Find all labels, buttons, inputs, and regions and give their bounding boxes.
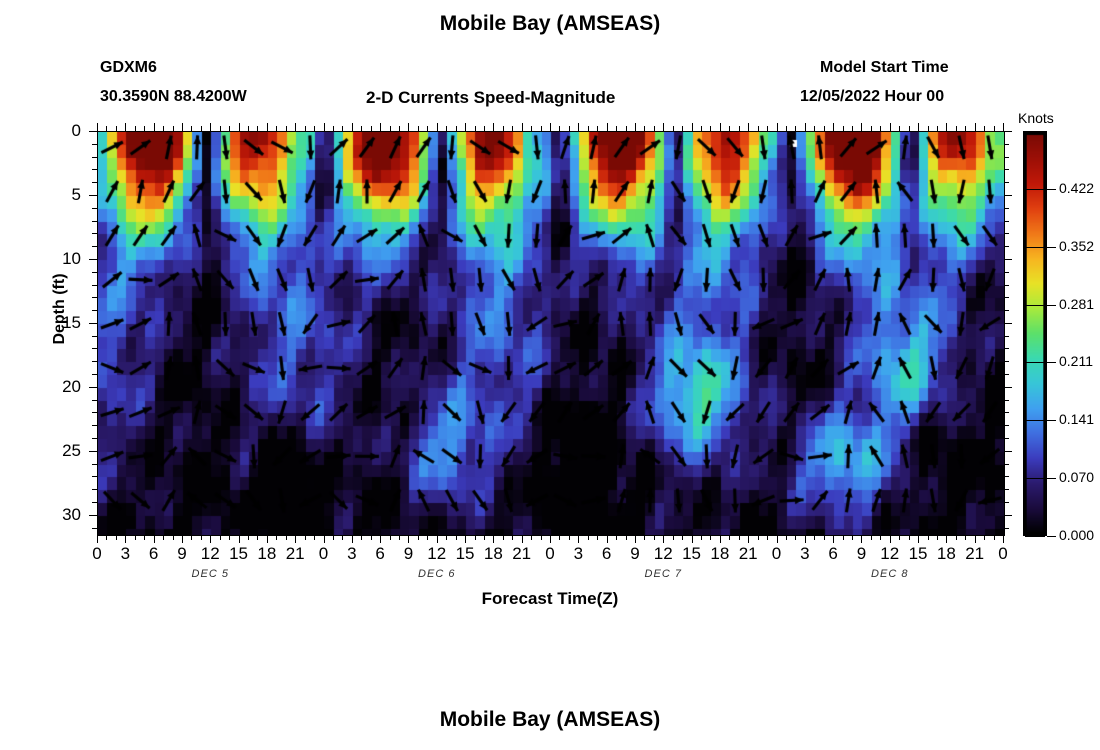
x-tick-minor: [871, 535, 872, 540]
y-tick-minor: [1004, 272, 1009, 273]
y-tick-minor: [92, 221, 97, 222]
x-tick-major: [125, 535, 126, 543]
x-tick-minor: [682, 535, 683, 540]
x-tick-minor: [276, 126, 277, 131]
x-tick-minor: [654, 126, 655, 131]
colorbar-tick-label: 0.070: [1059, 469, 1094, 485]
y-tick-major: [1004, 451, 1012, 452]
y-tick-minor: [1004, 208, 1009, 209]
x-tick-label: 0: [983, 544, 1023, 564]
x-tick-minor: [616, 126, 617, 131]
x-tick-minor: [928, 535, 929, 540]
x-tick-major: [578, 535, 579, 543]
x-tick-minor: [220, 126, 221, 131]
x-tick-minor: [559, 126, 560, 131]
y-tick-label: 5: [41, 185, 81, 205]
x-tick-minor: [729, 126, 730, 131]
y-tick-minor: [92, 144, 97, 145]
x-tick-minor: [928, 126, 929, 131]
x-tick-minor: [390, 535, 391, 540]
x-tick-major: [465, 535, 466, 543]
x-tick-major: [493, 123, 494, 131]
x-tick-minor: [626, 535, 627, 540]
x-tick-minor: [795, 126, 796, 131]
x-tick-major: [607, 123, 608, 131]
x-tick-minor: [106, 126, 107, 131]
y-tick-minor: [1004, 400, 1009, 401]
x-tick-minor: [814, 126, 815, 131]
x-tick-minor: [456, 126, 457, 131]
x-tick-minor: [937, 535, 938, 540]
x-tick-major: [493, 535, 494, 543]
y-tick-minor: [92, 438, 97, 439]
x-day-label: DEC 8: [845, 568, 935, 580]
x-tick-minor: [399, 126, 400, 131]
x-tick-minor: [116, 535, 117, 540]
x-tick-major: [380, 123, 381, 131]
y-tick-minor: [92, 528, 97, 529]
x-tick-minor: [541, 126, 542, 131]
x-tick-major: [833, 535, 834, 543]
x-tick-major: [890, 535, 891, 543]
y-tick-label: 0: [41, 121, 81, 141]
y-tick-minor: [92, 425, 97, 426]
y-tick-major: [1004, 515, 1012, 516]
x-tick-major: [748, 123, 749, 131]
x-tick-minor: [333, 535, 334, 540]
x-tick-minor: [880, 126, 881, 131]
y-tick-minor: [1004, 502, 1009, 503]
x-tick-minor: [843, 535, 844, 540]
x-tick-minor: [541, 535, 542, 540]
colorbar-tick: [1047, 536, 1056, 537]
x-tick-minor: [503, 535, 504, 540]
x-tick-minor: [361, 126, 362, 131]
x-tick-minor: [710, 126, 711, 131]
x-tick-minor: [248, 126, 249, 131]
x-tick-major: [550, 535, 551, 543]
x-tick-major: [720, 123, 721, 131]
colorbar-level-line: [1025, 536, 1045, 537]
x-tick-minor: [682, 126, 683, 131]
x-tick-minor: [371, 535, 372, 540]
x-tick-minor: [201, 126, 202, 131]
y-tick-minor: [92, 400, 97, 401]
model-start-label: Model Start Time: [820, 59, 949, 77]
x-tick-major: [352, 535, 353, 543]
x-tick-major: [267, 535, 268, 543]
y-tick-major: [89, 451, 97, 452]
y-tick-minor: [1004, 285, 1009, 286]
x-tick-minor: [701, 126, 702, 131]
x-tick-minor: [994, 535, 995, 540]
x-tick-minor: [286, 535, 287, 540]
x-tick-minor: [956, 535, 957, 540]
x-tick-major: [408, 535, 409, 543]
x-tick-minor: [116, 126, 117, 131]
x-tick-minor: [144, 535, 145, 540]
y-tick-minor: [1004, 310, 1009, 311]
x-tick-minor: [984, 535, 985, 540]
x-tick-minor: [654, 535, 655, 540]
x-tick-minor: [965, 535, 966, 540]
x-tick-minor: [701, 535, 702, 540]
x-tick-minor: [314, 126, 315, 131]
colorbar-tick: [1047, 478, 1056, 479]
colorbar-level-line: [1025, 362, 1045, 363]
y-tick-minor: [1004, 374, 1009, 375]
y-tick-minor: [92, 476, 97, 477]
x-tick-major: [663, 123, 664, 131]
y-tick-minor: [92, 310, 97, 311]
x-tick-major: [777, 535, 778, 543]
y-tick-minor: [1004, 233, 1009, 234]
x-tick-minor: [135, 126, 136, 131]
y-tick-minor: [92, 297, 97, 298]
colorbar-tick: [1047, 189, 1056, 190]
x-tick-minor: [456, 535, 457, 540]
x-tick-major: [578, 123, 579, 131]
x-tick-minor: [739, 535, 740, 540]
current-direction-arrows: [98, 132, 1004, 535]
page-title: Mobile Bay (AMSEAS): [0, 12, 1100, 36]
model-start-value: 12/05/2022 Hour 00: [800, 88, 944, 106]
x-tick-minor: [163, 126, 164, 131]
y-tick-minor: [92, 502, 97, 503]
x-tick-major: [97, 535, 98, 543]
y-tick-minor: [1004, 246, 1009, 247]
x-tick-major: [946, 535, 947, 543]
x-tick-minor: [843, 126, 844, 131]
x-tick-minor: [371, 126, 372, 131]
x-tick-minor: [333, 126, 334, 131]
x-tick-major: [352, 123, 353, 131]
x-tick-major: [861, 123, 862, 131]
x-tick-minor: [569, 535, 570, 540]
y-tick-minor: [1004, 221, 1009, 222]
colorbar: [1023, 131, 1047, 536]
y-tick-label: 20: [41, 377, 81, 397]
x-tick-minor: [626, 126, 627, 131]
footer-title: Mobile Bay (AMSEAS): [0, 708, 1100, 732]
x-tick-minor: [286, 126, 287, 131]
x-tick-minor: [644, 126, 645, 131]
x-tick-major: [437, 123, 438, 131]
x-tick-minor: [597, 535, 598, 540]
x-day-label: DEC 5: [165, 568, 255, 580]
y-tick-minor: [1004, 464, 1009, 465]
x-tick-minor: [305, 126, 306, 131]
x-tick-major: [408, 123, 409, 131]
x-tick-minor: [531, 126, 532, 131]
y-tick-minor: [92, 361, 97, 362]
y-tick-minor: [1004, 528, 1009, 529]
x-tick-minor: [673, 535, 674, 540]
y-tick-minor: [92, 272, 97, 273]
y-tick-major: [89, 387, 97, 388]
x-tick-major: [295, 535, 296, 543]
x-tick-major: [465, 123, 466, 131]
x-tick-major: [267, 123, 268, 131]
x-tick-minor: [399, 535, 400, 540]
x-tick-minor: [427, 126, 428, 131]
x-tick-major: [380, 535, 381, 543]
x-tick-minor: [729, 535, 730, 540]
y-tick-major: [89, 131, 97, 132]
colorbar-tick-label: 0.422: [1059, 180, 1094, 196]
x-tick-minor: [173, 535, 174, 540]
y-tick-minor: [1004, 157, 1009, 158]
x-tick-major: [918, 535, 919, 543]
x-tick-major: [975, 123, 976, 131]
x-tick-minor: [767, 535, 768, 540]
x-tick-minor: [229, 535, 230, 540]
y-tick-label: 30: [41, 505, 81, 525]
x-tick-minor: [257, 535, 258, 540]
y-tick-minor: [92, 285, 97, 286]
y-tick-major: [89, 195, 97, 196]
y-tick-minor: [1004, 348, 1009, 349]
colorbar-tick-label: 0.141: [1059, 411, 1094, 427]
y-tick-label: 25: [41, 441, 81, 461]
x-tick-minor: [899, 126, 900, 131]
x-tick-minor: [191, 126, 192, 131]
y-tick-minor: [92, 489, 97, 490]
x-tick-major: [550, 123, 551, 131]
y-tick-major: [1004, 387, 1012, 388]
x-tick-major: [805, 535, 806, 543]
x-tick-minor: [220, 535, 221, 540]
x-tick-minor: [937, 126, 938, 131]
x-tick-minor: [909, 126, 910, 131]
x-tick-minor: [644, 535, 645, 540]
x-tick-major: [1003, 535, 1004, 543]
x-tick-major: [182, 535, 183, 543]
x-tick-minor: [106, 535, 107, 540]
x-tick-minor: [475, 535, 476, 540]
y-tick-minor: [92, 233, 97, 234]
x-tick-minor: [984, 126, 985, 131]
colorbar-level-line: [1025, 420, 1045, 421]
colorbar-level-line: [1025, 189, 1045, 190]
x-tick-minor: [956, 126, 957, 131]
x-tick-minor: [248, 535, 249, 540]
station-id: GDXM6: [100, 59, 157, 77]
y-tick-major: [1004, 323, 1012, 324]
x-tick-major: [324, 123, 325, 131]
x-tick-minor: [446, 126, 447, 131]
colorbar-tick: [1047, 362, 1056, 363]
x-tick-minor: [871, 126, 872, 131]
x-tick-major: [635, 123, 636, 131]
x-tick-minor: [229, 126, 230, 131]
x-tick-major: [890, 123, 891, 131]
x-tick-minor: [305, 535, 306, 540]
heatmap-plot-area: [97, 131, 1005, 536]
x-tick-major: [522, 123, 523, 131]
x-tick-minor: [135, 535, 136, 540]
y-tick-major: [1004, 131, 1012, 132]
x-tick-minor: [559, 535, 560, 540]
colorbar-level-line: [1025, 247, 1045, 248]
colorbar-level-line: [1025, 478, 1045, 479]
y-tick-major: [89, 259, 97, 260]
y-tick-minor: [92, 182, 97, 183]
x-tick-minor: [588, 535, 589, 540]
chart-subtitle: 2-D Currents Speed-Magnitude: [366, 88, 615, 108]
x-tick-major: [97, 123, 98, 131]
x-tick-major: [295, 123, 296, 131]
x-tick-major: [692, 123, 693, 131]
x-tick-major: [154, 123, 155, 131]
y-tick-label: 10: [41, 249, 81, 269]
x-tick-minor: [758, 126, 759, 131]
y-tick-major: [1004, 259, 1012, 260]
x-tick-minor: [173, 126, 174, 131]
x-tick-major: [833, 123, 834, 131]
x-tick-minor: [965, 126, 966, 131]
y-tick-minor: [1004, 438, 1009, 439]
y-tick-minor: [92, 374, 97, 375]
station-latlon: 30.3590N 88.4200W: [100, 88, 247, 106]
x-tick-minor: [994, 126, 995, 131]
y-tick-minor: [92, 348, 97, 349]
y-tick-minor: [1004, 297, 1009, 298]
y-tick-minor: [1004, 169, 1009, 170]
x-tick-minor: [191, 535, 192, 540]
x-day-label: DEC 7: [618, 568, 708, 580]
x-tick-minor: [163, 535, 164, 540]
x-tick-minor: [824, 535, 825, 540]
x-tick-minor: [852, 126, 853, 131]
x-tick-minor: [512, 535, 513, 540]
x-tick-minor: [758, 535, 759, 540]
x-tick-minor: [710, 535, 711, 540]
x-tick-major: [239, 123, 240, 131]
colorbar-tick-label: 0.352: [1059, 238, 1094, 254]
x-tick-minor: [475, 126, 476, 131]
y-tick-minor: [1004, 336, 1009, 337]
x-tick-minor: [786, 535, 787, 540]
x-tick-minor: [569, 126, 570, 131]
x-tick-minor: [418, 535, 419, 540]
colorbar-level-line: [1025, 305, 1045, 306]
y-tick-minor: [92, 208, 97, 209]
x-tick-major: [239, 535, 240, 543]
x-tick-major: [437, 535, 438, 543]
x-tick-minor: [673, 126, 674, 131]
x-tick-minor: [597, 126, 598, 131]
x-tick-minor: [390, 126, 391, 131]
colorbar-tick: [1047, 305, 1056, 306]
x-tick-major: [1003, 123, 1004, 131]
x-tick-major: [210, 535, 211, 543]
y-tick-minor: [1004, 144, 1009, 145]
x-tick-major: [125, 123, 126, 131]
x-tick-major: [861, 535, 862, 543]
x-tick-major: [975, 535, 976, 543]
x-tick-minor: [144, 126, 145, 131]
x-tick-minor: [503, 126, 504, 131]
x-tick-major: [946, 123, 947, 131]
x-tick-minor: [361, 535, 362, 540]
y-tick-minor: [1004, 476, 1009, 477]
x-day-label: DEC 6: [392, 568, 482, 580]
x-tick-major: [805, 123, 806, 131]
colorbar-tick: [1047, 247, 1056, 248]
y-tick-minor: [92, 412, 97, 413]
colorbar-title: Knots: [1018, 110, 1054, 126]
x-tick-minor: [446, 535, 447, 540]
x-tick-minor: [201, 535, 202, 540]
y-tick-minor: [1004, 412, 1009, 413]
colorbar-gradient: [1023, 131, 1047, 536]
x-tick-minor: [588, 126, 589, 131]
x-tick-major: [692, 535, 693, 543]
y-tick-major: [89, 323, 97, 324]
x-tick-major: [154, 535, 155, 543]
x-tick-major: [918, 123, 919, 131]
x-tick-minor: [484, 535, 485, 540]
x-tick-minor: [342, 535, 343, 540]
colorbar-tick-label: 0.281: [1059, 296, 1094, 312]
colorbar-tick-label: 0.000: [1059, 527, 1094, 543]
x-tick-minor: [484, 126, 485, 131]
x-tick-major: [522, 535, 523, 543]
x-tick-minor: [427, 535, 428, 540]
x-tick-major: [663, 535, 664, 543]
x-tick-minor: [899, 535, 900, 540]
x-tick-minor: [824, 126, 825, 131]
y-tick-minor: [1004, 425, 1009, 426]
colorbar-tick: [1047, 420, 1056, 421]
x-tick-major: [720, 535, 721, 543]
chart-page: Mobile Bay (AMSEAS) GDXM6 30.3590N 88.42…: [0, 0, 1100, 750]
x-tick-minor: [257, 126, 258, 131]
x-tick-major: [635, 535, 636, 543]
y-tick-minor: [92, 246, 97, 247]
x-tick-major: [210, 123, 211, 131]
colorbar-tick-label: 0.211: [1059, 353, 1093, 369]
x-tick-minor: [909, 535, 910, 540]
y-tick-minor: [1004, 182, 1009, 183]
x-axis-title: Forecast Time(Z): [0, 589, 1100, 609]
x-tick-minor: [342, 126, 343, 131]
x-tick-minor: [739, 126, 740, 131]
x-tick-minor: [276, 535, 277, 540]
x-tick-major: [777, 123, 778, 131]
y-tick-major: [1004, 195, 1012, 196]
x-tick-minor: [795, 535, 796, 540]
x-tick-minor: [852, 535, 853, 540]
x-tick-minor: [814, 535, 815, 540]
x-tick-minor: [314, 535, 315, 540]
x-tick-minor: [512, 126, 513, 131]
x-tick-minor: [786, 126, 787, 131]
x-tick-minor: [616, 535, 617, 540]
x-tick-major: [748, 535, 749, 543]
x-tick-minor: [767, 126, 768, 131]
x-tick-minor: [531, 535, 532, 540]
y-tick-minor: [92, 336, 97, 337]
x-tick-minor: [418, 126, 419, 131]
x-tick-major: [324, 535, 325, 543]
y-tick-major: [89, 515, 97, 516]
y-tick-minor: [92, 464, 97, 465]
x-tick-major: [182, 123, 183, 131]
y-tick-minor: [92, 157, 97, 158]
y-tick-minor: [92, 169, 97, 170]
